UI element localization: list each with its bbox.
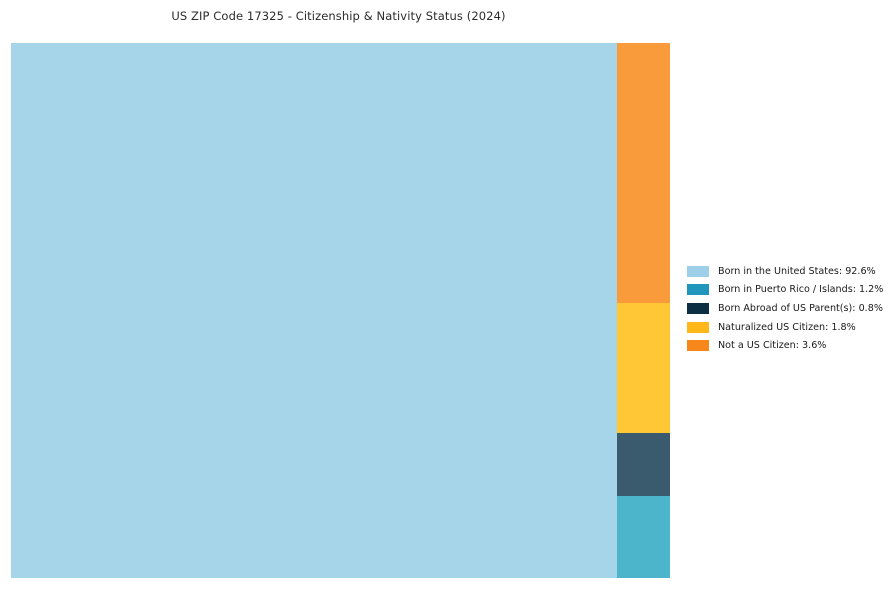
legend-swatch (687, 284, 709, 295)
legend-item-naturalized-us-citizen[interactable]: Naturalized US Citizen: 1.8% (687, 318, 882, 337)
chart-legend: Born in the United States: 92.6% Born in… (687, 262, 882, 355)
legend-item-not-a-us-citizen[interactable]: Not a US Citizen: 3.6% (687, 336, 882, 355)
treemap-tile-born-in-the-united-states[interactable]: Born in the United States 92.6% (11, 43, 617, 578)
legend-item-born-in-puerto-rico-islands[interactable]: Born in Puerto Rico / Islands: 1.2% (687, 281, 882, 300)
legend-label: Born in Puerto Rico / Islands: 1.2% (718, 284, 883, 295)
legend-label: Naturalized US Citizen: 1.8% (718, 322, 856, 333)
treemap-tile-born-abroad-of-us-parents[interactable]: Born Abroad of US Parent(s) 0.8% (617, 433, 670, 496)
treemap-figure: US ZIP Code 17325 - Citizenship & Nativi… (0, 0, 889, 590)
treemap-plot-area: Born in the United States 92.6% Born in … (11, 43, 670, 578)
treemap-tile-naturalized-us-citizen[interactable]: Naturalized US Citizen 1.8% (617, 303, 670, 433)
legend-swatch (687, 340, 709, 351)
legend-label: Born in the United States: 92.6% (718, 266, 876, 277)
legend-item-born-abroad-of-us-parents[interactable]: Born Abroad of US Parent(s): 0.8% (687, 299, 882, 318)
treemap-tile-born-in-puerto-rico-islands[interactable]: Born in Puerto Rico / Islands 1.2% (617, 496, 670, 578)
legend-label: Not a US Citizen: 3.6% (718, 340, 826, 351)
treemap-tile-not-a-us-citizen[interactable]: Not a US Citizen 3.6% (617, 43, 670, 303)
legend-item-born-in-the-united-states[interactable]: Born in the United States: 92.6% (687, 262, 882, 281)
legend-swatch (687, 303, 709, 314)
legend-swatch (687, 322, 709, 333)
chart-title: US ZIP Code 17325 - Citizenship & Nativi… (0, 9, 677, 23)
legend-label: Born Abroad of US Parent(s): 0.8% (718, 303, 883, 314)
legend-swatch (687, 266, 709, 277)
